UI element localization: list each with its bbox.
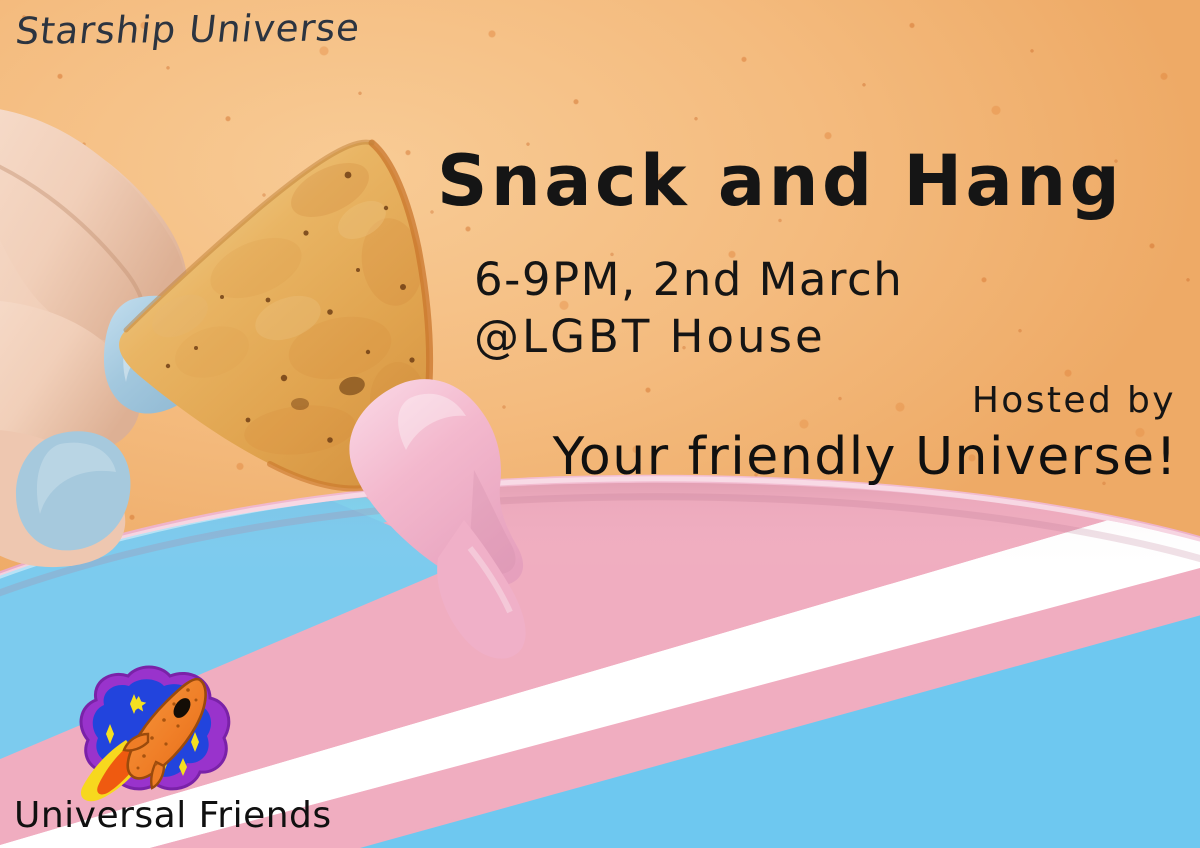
organisation-name: Universal Friends: [14, 795, 332, 836]
host-name: Your friendly Universe!: [553, 427, 1178, 487]
pink-dip-blob-icon: [349, 379, 525, 659]
event-flyer-poster: Starship Universe Snack and Hang 6-9PM, …: [0, 0, 1200, 848]
rocket-in-space-cloud-icon: [52, 660, 247, 805]
hosted-by-label: Hosted by: [972, 380, 1176, 421]
brand-header: Starship Universe: [13, 6, 362, 53]
event-time-date: 6-9PM, 2nd March: [474, 253, 903, 306]
page-title: Snack and Hang: [437, 140, 1123, 222]
event-venue: @LGBT House: [474, 310, 826, 363]
